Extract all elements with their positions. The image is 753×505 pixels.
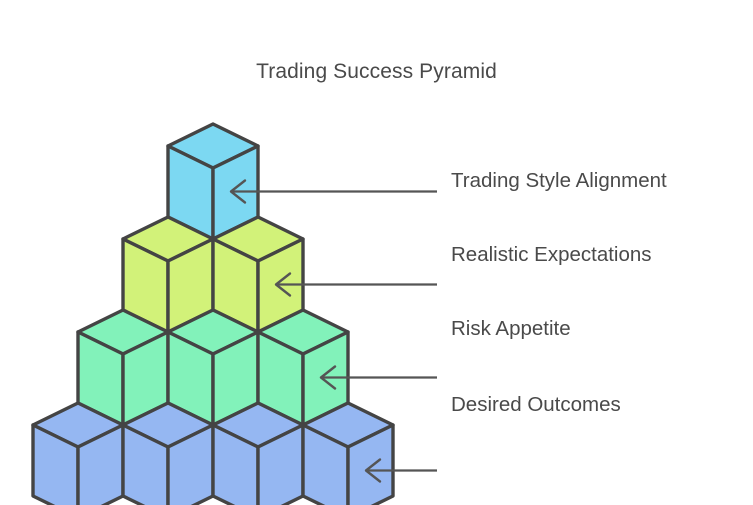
cube-stack <box>33 124 393 505</box>
level-label-trading-style-alignment: Trading Style Alignment <box>451 171 667 192</box>
level-label-desired-outcomes: Desired Outcomes <box>451 395 621 416</box>
level-label-risk-appetite: Risk Appetite <box>451 319 571 340</box>
cube <box>303 403 393 505</box>
diagram-canvas: Trading Success Pyramid Trading Style Al… <box>0 0 753 505</box>
cube <box>33 403 123 505</box>
cube <box>123 403 213 505</box>
cube <box>213 403 303 505</box>
level-label-realistic-expectations: Realistic Expectations <box>451 245 652 266</box>
